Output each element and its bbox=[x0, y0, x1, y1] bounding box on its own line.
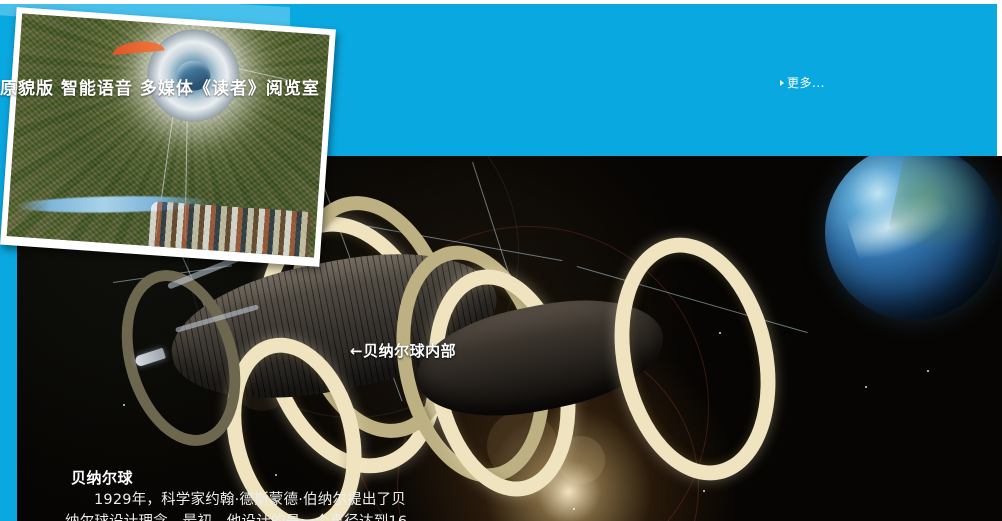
photo-image bbox=[7, 14, 330, 258]
page-root: 更多... bbox=[0, 0, 1002, 521]
artwork-caption: ←贝纳尔球内部 bbox=[350, 340, 456, 361]
more-link[interactable]: 更多... bbox=[780, 74, 825, 91]
banner-headline: 原貌版 智能语音 多媒体《读者》阅览室 bbox=[0, 74, 260, 99]
bernal-sphere-interior-photo[interactable] bbox=[0, 7, 336, 267]
article-block: 贝纳尔球 1929年，科学家约翰·德斯蒙德·伯纳尔提出了贝纳尔球设计理念。最初，… bbox=[65, 468, 410, 521]
banner-right-edge bbox=[997, 4, 1002, 156]
station-mirror-ring bbox=[593, 222, 797, 495]
triangle-right-icon bbox=[780, 80, 784, 86]
more-link-label: 更多... bbox=[787, 74, 825, 91]
article-paragraph: 1929年，科学家约翰·德斯蒙德·伯纳尔提出了贝纳尔球设计理念。最初，他设计的是… bbox=[65, 490, 410, 521]
article-title: 贝纳尔球 bbox=[71, 468, 410, 488]
